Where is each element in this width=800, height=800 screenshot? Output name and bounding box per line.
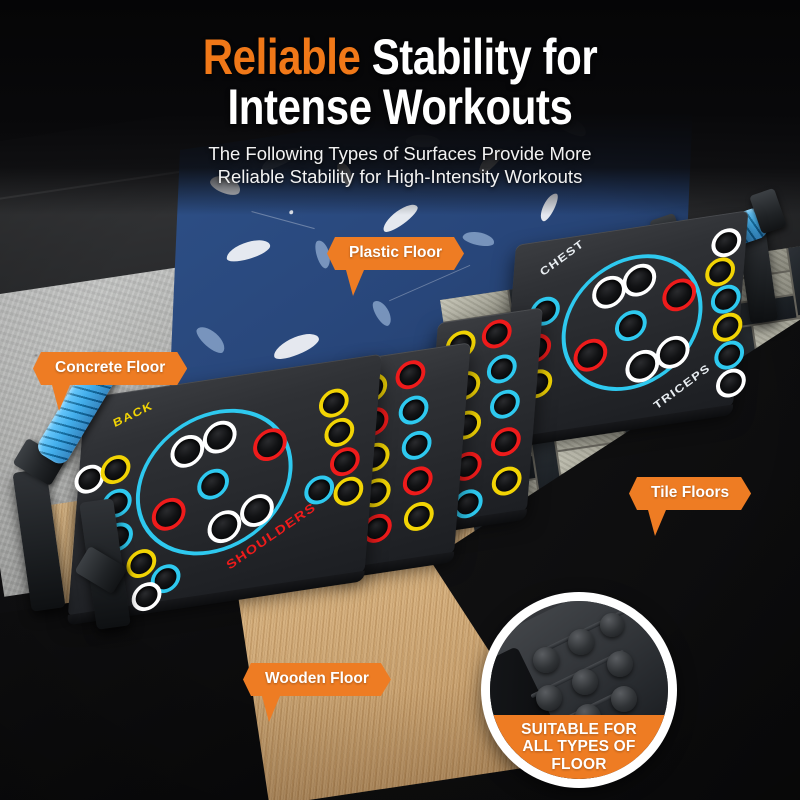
product-marketing-image: CHEST TRICEPS (0, 0, 800, 800)
headline-line2: Intense Workouts (64, 83, 736, 133)
inset-banner-line2: ALL TYPES OF (522, 738, 635, 755)
board-label-chest: CHEST (538, 237, 587, 278)
page-title: Reliable Stability for Intense Workouts (64, 0, 736, 132)
rubber-foot (536, 685, 562, 711)
inset-banner: SUITABLE FOR ALL TYPES OF FLOOR (490, 715, 668, 779)
rubber-foot (533, 647, 559, 673)
inset-banner-line3: FLOOR (551, 756, 606, 773)
header: Reliable Stability for Intense Workouts … (0, 0, 800, 189)
rubber-foot (572, 669, 598, 695)
callout-tail-icon (648, 510, 666, 536)
callout-plastic-floor[interactable]: Plastic Floor (327, 237, 464, 270)
inset-detail-circle[interactable]: SUITABLE FOR ALL TYPES OF FLOOR (481, 592, 677, 788)
headline-line1-rest: Stability for (372, 29, 598, 85)
subtitle-line2: Reliable Stability for High-Intensity Wo… (0, 166, 800, 189)
callout-tile-floors[interactable]: Tile Floors (629, 477, 751, 510)
headline-highlight: Reliable (203, 29, 361, 85)
inset-photo-board-underside: SUITABLE FOR ALL TYPES OF FLOOR (490, 601, 668, 779)
callout-concrete-floor-label: Concrete Floor (33, 352, 187, 385)
callout-concrete-floor[interactable]: Concrete Floor (33, 352, 187, 385)
callout-wooden-floor-label: Wooden Floor (243, 663, 391, 696)
subtitle-line1: The Following Types of Surfaces Provide … (0, 143, 800, 166)
callout-tail-icon (346, 270, 364, 296)
callout-tail-icon (52, 385, 70, 411)
inset-banner-line1: SUITABLE FOR (521, 721, 637, 738)
callout-plastic-floor-label: Plastic Floor (327, 237, 464, 270)
callout-wooden-floor[interactable]: Wooden Floor (243, 663, 391, 696)
callout-tail-icon (262, 696, 280, 722)
board-label-back: BACK (112, 399, 155, 430)
page-subtitle: The Following Types of Surfaces Provide … (0, 143, 800, 189)
callout-tile-floors-label: Tile Floors (629, 477, 751, 510)
